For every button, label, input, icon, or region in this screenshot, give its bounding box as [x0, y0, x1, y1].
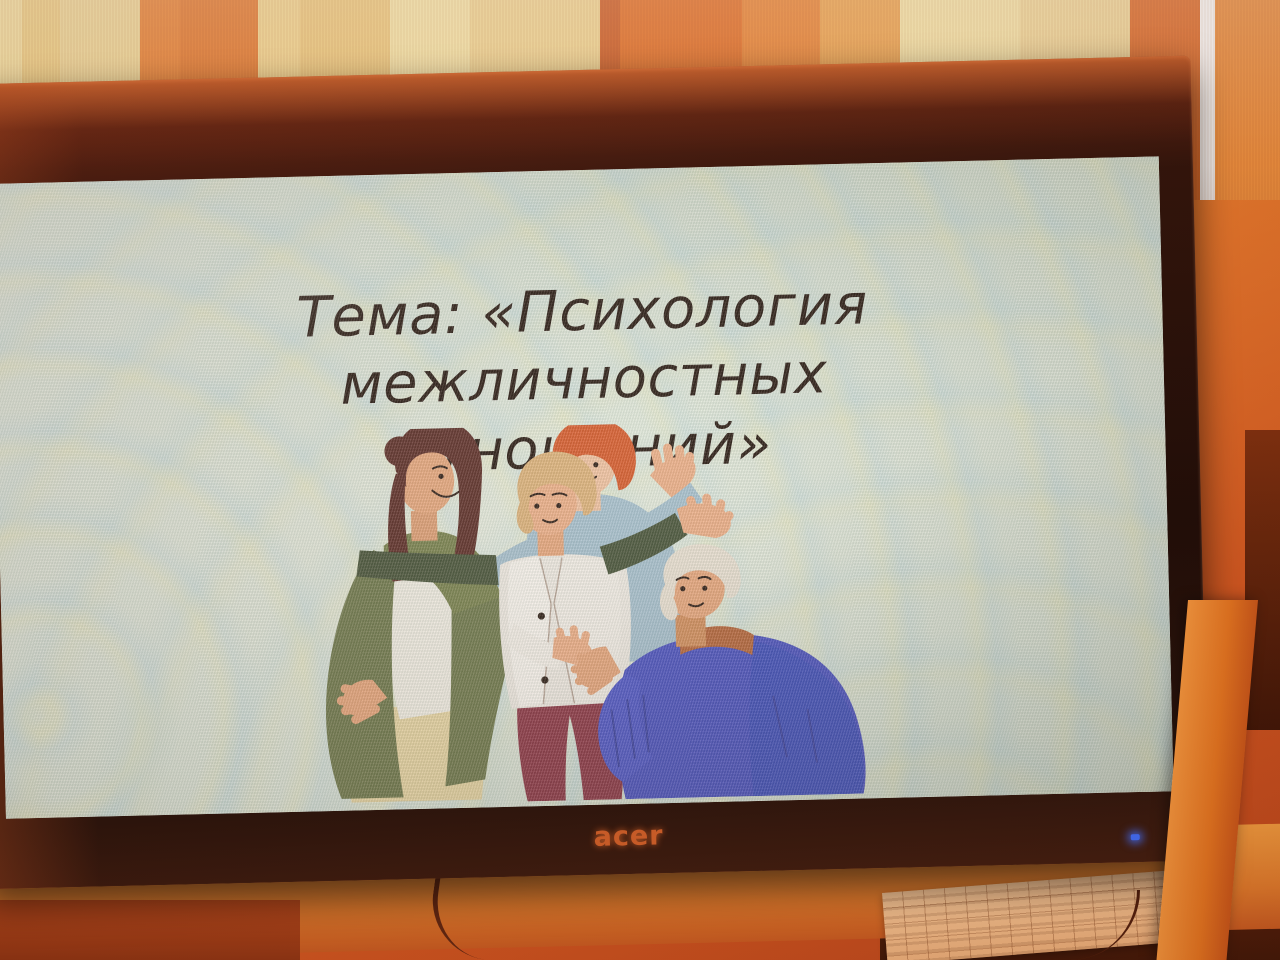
photo-scene: Тема: «Психология межличностных отношени… — [0, 0, 1280, 960]
power-indicator-led[interactable] — [1131, 834, 1140, 840]
acer-brand-logo: acer — [568, 820, 689, 855]
acer-monitor: Тема: «Психология межличностных отношени… — [0, 56, 1209, 890]
desk-shadow-left — [0, 900, 300, 960]
monitor-screen: Тема: «Психология межличностных отношени… — [0, 156, 1174, 818]
presentation-slide: Тема: «Психология межличностных отношени… — [0, 156, 1174, 818]
moire-scanlines-2 — [0, 156, 1174, 818]
